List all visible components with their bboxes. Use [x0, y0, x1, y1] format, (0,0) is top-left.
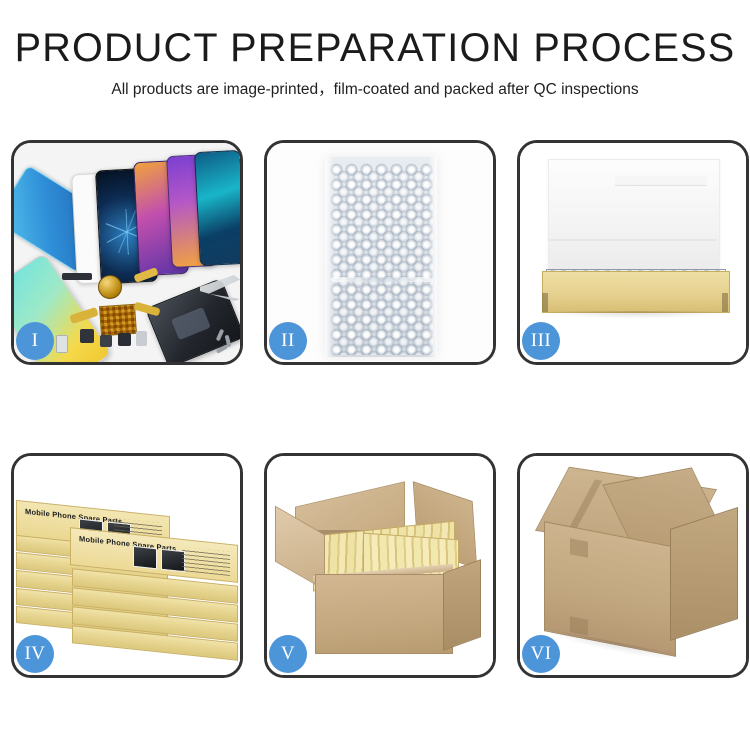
- small-component-3: [118, 333, 131, 346]
- step-panel-1[interactable]: I: [11, 140, 243, 365]
- small-component-2: [100, 335, 112, 347]
- pouch-edge-right: [428, 157, 437, 357]
- bubble-texture-back: [336, 170, 433, 355]
- lid-notch: [615, 176, 707, 186]
- bubble-wrap-pouch: [325, 157, 437, 357]
- box-shadow: [546, 311, 724, 319]
- step-badge-1: I: [16, 322, 54, 360]
- box-artwork-screen-1: [133, 546, 157, 570]
- speaker-coil-part: [98, 275, 122, 299]
- step-badge-3: III: [522, 322, 560, 360]
- box-corner-left: [542, 293, 548, 312]
- chip-array-part: [99, 304, 137, 336]
- pouch-edge-left: [325, 157, 334, 357]
- process-steps-grid: I II III: [11, 140, 741, 678]
- step-badge-6: VI: [522, 635, 560, 673]
- carton-tape-mark-top: [570, 538, 588, 557]
- box-spec-lines: [182, 547, 230, 576]
- small-component-1: [80, 329, 94, 343]
- step-panel-6[interactable]: VI: [517, 453, 749, 678]
- page-header: PRODUCT PREPARATION PROCESS All products…: [0, 0, 750, 98]
- box-lid-open: [548, 159, 720, 287]
- box-stack: Mobile Phone Spare Parts Mobile Phone Sp…: [14, 474, 240, 664]
- carton-front-face: [315, 574, 453, 654]
- page-subtitle: All products are image-printed，film-coat…: [0, 82, 750, 98]
- small-component-5: [136, 331, 147, 346]
- step-badge-2: II: [269, 322, 307, 360]
- step-panel-2[interactable]: II: [264, 140, 496, 365]
- pouch-seam: [331, 277, 431, 282]
- step-panel-3[interactable]: III: [517, 140, 749, 365]
- step-badge-4: IV: [16, 635, 54, 673]
- lid-fold-line: [549, 239, 717, 241]
- battery-connector-part: [62, 273, 92, 280]
- page-title: PRODUCT PREPARATION PROCESS: [4, 28, 747, 68]
- step-panel-4[interactable]: Mobile Phone Spare Parts Mobile Phone Sp…: [11, 453, 243, 678]
- carton-side-face: [443, 559, 481, 651]
- small-component-4: [56, 335, 68, 353]
- yellow-box-body: [542, 271, 730, 313]
- carton-side-face: [670, 507, 738, 641]
- box-corner-right: [722, 293, 728, 312]
- teal-wave-phone: [194, 150, 240, 266]
- step-panel-5[interactable]: V: [264, 453, 496, 678]
- step-badge-5: V: [269, 635, 307, 673]
